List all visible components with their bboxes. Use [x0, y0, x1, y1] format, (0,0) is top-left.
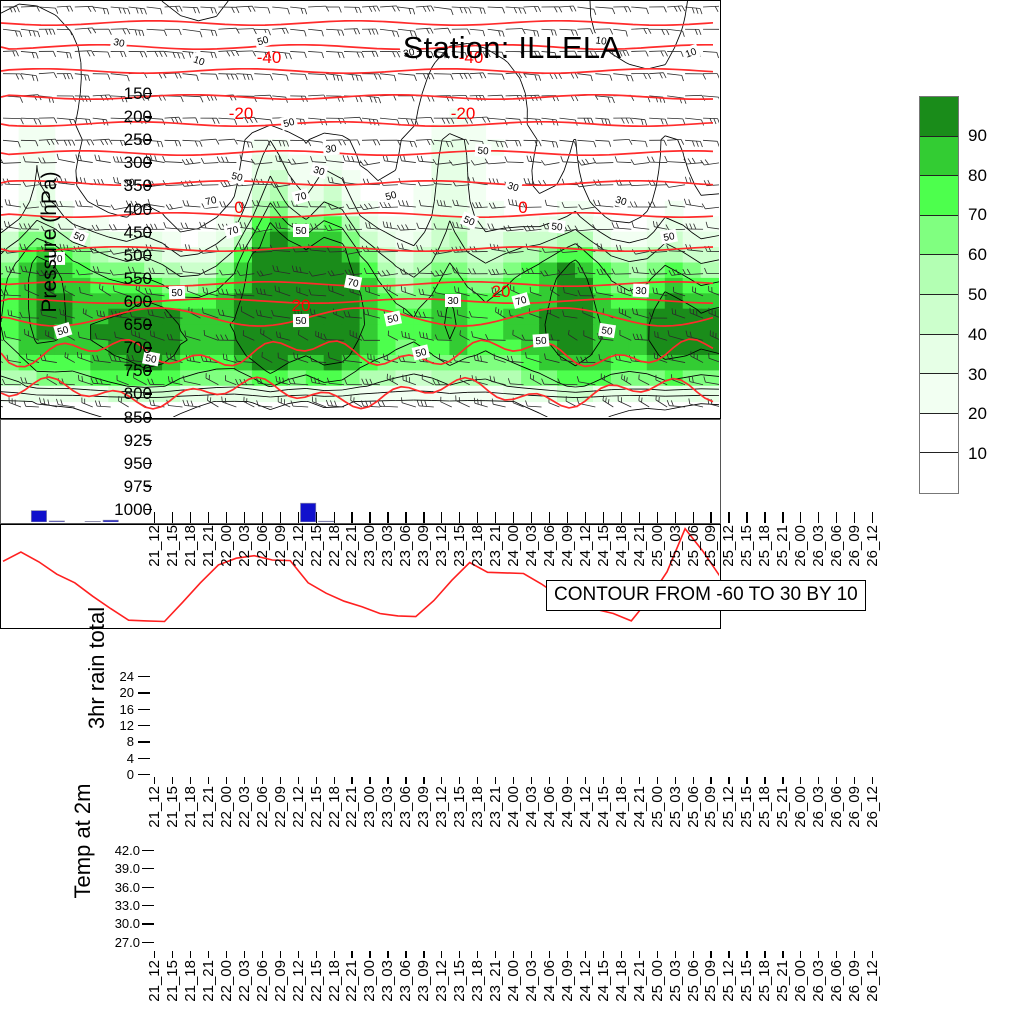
time-tick-label: 22_06: [255, 960, 270, 1002]
time-tick-label: 23_18: [470, 525, 485, 567]
time-tick-label: 26_00: [793, 786, 808, 828]
svg-text:50: 50: [551, 221, 564, 233]
time-tick-label: 23_12: [434, 786, 449, 828]
time-tick-mark: [639, 512, 640, 523]
temp-tick-mark: [142, 868, 154, 869]
pressure-axis: 1502002503003504004505005506006507007508…: [90, 93, 152, 512]
time-tick-label: 25_06: [686, 960, 701, 1002]
time-tick-mark: [621, 512, 622, 523]
colorbar-tick-label: 60: [968, 246, 987, 263]
rain-tick-mark: [138, 741, 150, 742]
rain-axis: 24201612840: [100, 672, 152, 777]
time-tick-label: 21_15: [165, 960, 180, 1002]
time-tick-mark: [513, 777, 514, 784]
time-tick-mark: [657, 777, 658, 784]
time-tick-label: 25_09: [703, 525, 718, 567]
time-tick-label: 22_09: [273, 525, 288, 567]
time-tick-mark: [316, 951, 317, 958]
time-tick-mark: [872, 951, 873, 958]
time-tick-mark: [262, 777, 263, 784]
time-tick-mark: [190, 512, 191, 523]
time-tick-mark: [334, 951, 335, 958]
colorbar-tick-label: 50: [968, 286, 987, 303]
time-tick-label: 22_21: [344, 786, 359, 828]
time-tick-label: 23_21: [488, 525, 503, 567]
time-tick-label: 22_03: [237, 786, 252, 828]
time-tick-label: 24_15: [596, 960, 611, 1002]
time-tick-label: 25_18: [757, 960, 772, 1002]
time-tick-mark: [872, 512, 873, 523]
time-tick-mark: [764, 951, 765, 958]
time-tick-label: 21_12: [147, 960, 162, 1002]
time-tick-mark: [657, 951, 658, 958]
main-panel-y-axis-label: Pressure (hPa): [38, 132, 62, 352]
time-tick-mark: [298, 951, 299, 958]
pressure-tick-mark: [145, 370, 152, 371]
time-tick-mark: [280, 512, 281, 523]
time-tick-label: 25_15: [739, 960, 754, 1002]
time-tick-label: 25_03: [668, 960, 683, 1002]
time-tick-label: 26_12: [865, 525, 880, 567]
time-tick-label: 22_03: [237, 960, 252, 1002]
time-tick-label: 26_12: [865, 960, 880, 1002]
time-tick-mark: [459, 777, 460, 784]
rain-tick-mark: [138, 758, 150, 759]
time-tick-label: 24_09: [560, 525, 575, 567]
svg-text:50: 50: [171, 288, 183, 299]
rain-tick-mark: [138, 774, 150, 775]
colorbar-band: [920, 216, 958, 256]
colorbar-tick-label: 70: [968, 206, 987, 223]
time-tick-label: 24_18: [614, 786, 629, 828]
time-tick-label: 22_06: [255, 786, 270, 828]
svg-text:50: 50: [535, 336, 547, 348]
time-tick-label: 21_15: [165, 786, 180, 828]
time-tick-mark: [531, 512, 532, 523]
pressure-tick-mark: [145, 440, 152, 441]
pressure-tick-mark: [145, 393, 152, 394]
time-tick-label: 25_09: [703, 786, 718, 828]
time-tick-mark: [477, 951, 478, 958]
time-tick-mark: [693, 951, 694, 958]
time-tick-label: 26_06: [829, 786, 844, 828]
time-tick-label: 23_15: [452, 525, 467, 567]
time-tick-label: 25_21: [775, 525, 790, 567]
time-tick-label: 21_21: [201, 525, 216, 567]
pressure-tick-mark: [145, 324, 152, 325]
time-tick-label: 22_18: [327, 525, 342, 567]
time-tick-label: 26_00: [793, 525, 808, 567]
time-tick-mark: [818, 777, 819, 784]
time-tick-mark: [208, 777, 209, 784]
time-tick-mark: [657, 512, 658, 523]
time-tick-label: 22_15: [309, 786, 324, 828]
time-tick-label: 25_00: [650, 525, 665, 567]
rain-tick-mark: [138, 692, 150, 693]
time-tick-mark: [298, 512, 299, 523]
time-tick-label: 22_12: [291, 525, 306, 567]
pressure-tick-mark: [145, 463, 152, 464]
svg-text:50: 50: [295, 226, 307, 237]
time-tick-label: 23_06: [398, 786, 413, 828]
time-tick-mark: [585, 512, 586, 523]
colorbar-band: [920, 374, 958, 414]
temp-panel-time-axis: 21_1221_1521_1821_2122_0022_0322_0622_09…: [152, 951, 873, 1011]
pressure-tick-mark: [145, 278, 152, 279]
time-tick-mark: [316, 512, 317, 523]
time-tick-mark: [405, 951, 406, 958]
colorbar-band: [920, 176, 958, 216]
colorbar-tick-label: 20: [968, 405, 987, 422]
pressure-tick-mark: [145, 93, 152, 94]
time-tick-label: 24_21: [632, 525, 647, 567]
time-tick-label: 22_12: [291, 786, 306, 828]
temp-tick-label: 42.0: [96, 844, 140, 857]
time-tick-label: 25_00: [650, 960, 665, 1002]
time-tick-mark: [172, 777, 173, 784]
time-tick-mark: [226, 951, 227, 958]
time-tick-label: 24_18: [614, 960, 629, 1002]
time-tick-label: 24_00: [506, 786, 521, 828]
time-tick-label: 23_21: [488, 960, 503, 1002]
time-tick-label: 26_00: [793, 960, 808, 1002]
time-tick-mark: [531, 777, 532, 784]
time-tick-mark: [728, 512, 729, 523]
time-tick-label: 25_06: [686, 525, 701, 567]
time-tick-label: 24_12: [578, 960, 593, 1002]
time-tick-mark: [513, 512, 514, 523]
time-tick-label: 24_03: [524, 960, 539, 1002]
svg-text:50: 50: [477, 146, 489, 158]
temp-tick-mark: [142, 850, 154, 851]
time-tick-label: 26_06: [829, 960, 844, 1002]
time-tick-mark: [405, 777, 406, 784]
time-tick-label: 26_03: [811, 786, 826, 828]
time-tick-label: 26_12: [865, 786, 880, 828]
time-tick-mark: [639, 951, 640, 958]
time-tick-mark: [710, 951, 711, 958]
time-tick-label: 25_15: [739, 525, 754, 567]
time-tick-mark: [351, 512, 352, 523]
temp-tick-mark: [142, 905, 154, 906]
temp-tick-label: 36.0: [96, 881, 140, 894]
time-tick-mark: [441, 951, 442, 958]
time-tick-mark: [549, 512, 550, 523]
colorbar-band: [920, 453, 958, 493]
svg-text:20: 20: [492, 282, 511, 301]
time-tick-mark: [675, 512, 676, 523]
time-tick-label: 21_18: [183, 960, 198, 1002]
rain-tick-mark: [138, 709, 150, 710]
time-tick-mark: [746, 777, 747, 784]
time-tick-label: 24_06: [542, 525, 557, 567]
time-tick-mark: [495, 777, 496, 784]
time-tick-label: 25_03: [668, 525, 683, 567]
colorbar-band: [920, 255, 958, 295]
time-tick-mark: [334, 777, 335, 784]
time-tick-mark: [405, 512, 406, 523]
time-tick-mark: [639, 777, 640, 784]
temp-tick-label: 30.0: [96, 917, 140, 930]
time-tick-mark: [836, 951, 837, 958]
temp-tick-label: 33.0: [96, 899, 140, 912]
rain-panel-time-axis: 21_1221_1521_1821_2122_0022_0322_0622_09…: [152, 777, 873, 837]
time-tick-label: 21_18: [183, 525, 198, 567]
pressure-tick-mark: [145, 209, 152, 210]
time-tick-mark: [459, 951, 460, 958]
time-tick-mark: [693, 512, 694, 523]
time-tick-label: 22_09: [273, 960, 288, 1002]
time-tick-mark: [675, 777, 676, 784]
time-tick-mark: [334, 512, 335, 523]
svg-text:50: 50: [601, 325, 614, 338]
colorbar-tick-label: 40: [968, 326, 987, 343]
time-tick-mark: [603, 512, 604, 523]
rain-tick-label: 12: [100, 719, 134, 732]
time-tick-mark: [728, 777, 729, 784]
time-tick-label: 22_00: [219, 525, 234, 567]
time-tick-mark: [513, 951, 514, 958]
time-tick-mark: [800, 512, 801, 523]
time-tick-label: 23_09: [416, 786, 431, 828]
time-tick-label: 22_00: [219, 786, 234, 828]
time-tick-mark: [567, 951, 568, 958]
time-tick-label: 24_00: [506, 525, 521, 567]
svg-text:50: 50: [295, 316, 307, 327]
time-tick-mark: [800, 777, 801, 784]
time-tick-label: 25_21: [775, 960, 790, 1002]
time-tick-mark: [782, 777, 783, 784]
time-tick-label: 25_12: [721, 960, 736, 1002]
pressure-tick-mark: [145, 417, 152, 418]
time-tick-label: 23_06: [398, 960, 413, 1002]
rain-tick-mark: [138, 725, 150, 726]
time-tick-mark: [351, 777, 352, 784]
time-tick-mark: [603, 777, 604, 784]
time-tick-label: 25_03: [668, 786, 683, 828]
pressure-tick-mark: [145, 301, 152, 302]
pressure-tick-mark: [145, 139, 152, 140]
time-tick-label: 23_00: [362, 786, 377, 828]
time-tick-mark: [567, 777, 568, 784]
time-tick-mark: [208, 512, 209, 523]
time-tick-label: 24_12: [578, 525, 593, 567]
svg-text:0: 0: [234, 198, 243, 217]
time-tick-mark: [621, 777, 622, 784]
colorbar-tick-label: 30: [968, 366, 987, 383]
svg-text:0: 0: [518, 198, 527, 217]
time-tick-label: 24_09: [560, 786, 575, 828]
time-tick-mark: [208, 951, 209, 958]
time-tick-mark: [262, 512, 263, 523]
colorbar-band: [920, 414, 958, 454]
time-tick-mark: [298, 777, 299, 784]
time-tick-mark: [585, 951, 586, 958]
rain-tick-label: 20: [100, 686, 134, 699]
time-tick-label: 24_03: [524, 525, 539, 567]
time-tick-label: 21_18: [183, 786, 198, 828]
time-tick-label: 23_09: [416, 960, 431, 1002]
time-tick-mark: [154, 777, 155, 784]
page-title: Station: ILLELA: [0, 30, 1024, 66]
time-tick-label: 24_15: [596, 786, 611, 828]
temp-panel-y-axis-label: Temp at 2m: [70, 726, 96, 956]
time-tick-label: 26_09: [847, 786, 862, 828]
time-tick-mark: [387, 777, 388, 784]
time-tick-label: 24_15: [596, 525, 611, 567]
time-tick-label: 24_00: [506, 960, 521, 1002]
svg-text:30: 30: [447, 296, 459, 307]
time-tick-label: 24_09: [560, 960, 575, 1002]
time-tick-label: 22_21: [344, 525, 359, 567]
time-tick-label: 23_15: [452, 786, 467, 828]
time-tick-mark: [441, 777, 442, 784]
time-tick-mark: [172, 512, 173, 523]
temp-tick-mark: [142, 887, 154, 888]
time-tick-mark: [495, 951, 496, 958]
time-tick-label: 23_00: [362, 525, 377, 567]
time-tick-mark: [244, 951, 245, 958]
rain-tick-label: 16: [100, 703, 134, 716]
time-tick-label: 25_06: [686, 786, 701, 828]
time-tick-label: 24_03: [524, 786, 539, 828]
time-tick-mark: [459, 512, 460, 523]
time-tick-label: 22_12: [291, 960, 306, 1002]
time-tick-label: 26_09: [847, 960, 862, 1002]
time-tick-label: 21_12: [147, 786, 162, 828]
time-tick-mark: [495, 512, 496, 523]
rain-tick-label: 8: [100, 735, 134, 748]
time-tick-label: 25_18: [757, 786, 772, 828]
temp-tick-label: 39.0: [96, 862, 140, 875]
rain-tick-label: 24: [100, 670, 134, 683]
colorbar-tick-label: 80: [968, 167, 987, 184]
time-tick-mark: [746, 512, 747, 523]
time-tick-mark: [603, 951, 604, 958]
time-tick-label: 23_15: [452, 960, 467, 1002]
time-tick-label: 25_00: [650, 786, 665, 828]
time-tick-mark: [710, 777, 711, 784]
time-tick-label: 24_06: [542, 960, 557, 1002]
time-tick-label: 22_00: [219, 960, 234, 1002]
time-tick-mark: [872, 777, 873, 784]
time-tick-mark: [190, 777, 191, 784]
svg-text:30: 30: [325, 143, 338, 156]
rain-tick-label: 4: [100, 752, 134, 765]
time-tick-label: 25_12: [721, 786, 736, 828]
colorbar-tick-label: 10: [968, 445, 987, 462]
time-tick-mark: [782, 512, 783, 523]
time-tick-mark: [244, 512, 245, 523]
rain-tick-mark: [138, 676, 150, 677]
time-tick-mark: [854, 777, 855, 784]
time-tick-mark: [190, 951, 191, 958]
time-tick-mark: [423, 512, 424, 523]
pressure-tick-mark: [145, 347, 152, 348]
time-tick-mark: [567, 512, 568, 523]
time-tick-label: 24_18: [614, 525, 629, 567]
pressure-tick-mark: [145, 232, 152, 233]
pressure-tick-mark: [145, 116, 152, 117]
svg-text:20: 20: [292, 296, 311, 315]
time-tick-label: 26_03: [811, 525, 826, 567]
time-tick-mark: [549, 951, 550, 958]
time-tick-label: 25_18: [757, 525, 772, 567]
time-tick-label: 22_09: [273, 786, 288, 828]
time-tick-label: 26_09: [847, 525, 862, 567]
time-tick-mark: [226, 512, 227, 523]
temp-axis: 42.039.036.033.030.027.0: [96, 846, 152, 951]
time-tick-label: 24_21: [632, 960, 647, 1002]
time-tick-mark: [262, 951, 263, 958]
colorbar-band: [920, 97, 958, 137]
time-tick-label: 22_21: [344, 960, 359, 1002]
time-tick-label: 24_21: [632, 786, 647, 828]
temp-tick-label: 27.0: [96, 936, 140, 949]
pressure-tick-mark: [145, 255, 152, 256]
time-tick-mark: [477, 512, 478, 523]
time-tick-mark: [836, 777, 837, 784]
time-tick-label: 23_03: [380, 525, 395, 567]
time-tick-mark: [531, 951, 532, 958]
time-tick-label: 21_15: [165, 525, 180, 567]
svg-text:-20: -20: [229, 104, 254, 123]
time-tick-mark: [280, 951, 281, 958]
time-tick-label: 22_18: [327, 786, 342, 828]
time-tick-label: 21_12: [147, 525, 162, 567]
temp-tick-mark: [142, 942, 154, 943]
time-tick-mark: [369, 512, 370, 523]
time-tick-mark: [782, 951, 783, 958]
time-tick-mark: [423, 951, 424, 958]
time-tick-label: 22_03: [237, 525, 252, 567]
time-tick-mark: [154, 951, 155, 958]
time-tick-mark: [854, 512, 855, 523]
time-tick-mark: [387, 951, 388, 958]
time-tick-mark: [764, 777, 765, 784]
time-tick-mark: [836, 512, 837, 523]
colorbar: [919, 96, 959, 494]
time-tick-label: 22_15: [309, 525, 324, 567]
time-tick-mark: [226, 777, 227, 784]
time-tick-label: 23_18: [470, 786, 485, 828]
time-tick-mark: [441, 512, 442, 523]
rain-tick-label: 0: [100, 768, 134, 781]
time-tick-mark: [818, 512, 819, 523]
main-panel-time-axis: 21_1221_1521_1821_2122_0022_0322_0622_09…: [152, 512, 873, 582]
time-tick-label: 24_06: [542, 786, 557, 828]
colorbar-band: [920, 295, 958, 335]
time-tick-mark: [675, 951, 676, 958]
time-tick-mark: [585, 777, 586, 784]
time-tick-label: 26_03: [811, 960, 826, 1002]
time-tick-mark: [549, 777, 550, 784]
time-tick-label: 23_12: [434, 960, 449, 1002]
time-tick-mark: [728, 951, 729, 958]
time-tick-mark: [244, 777, 245, 784]
time-tick-label: 23_00: [362, 960, 377, 1002]
pressure-tick-mark: [145, 162, 152, 163]
time-tick-mark: [154, 512, 155, 523]
time-tick-mark: [818, 951, 819, 958]
time-tick-mark: [710, 512, 711, 523]
time-tick-mark: [800, 951, 801, 958]
time-tick-mark: [854, 951, 855, 958]
colorbar-tick-label: 90: [968, 127, 987, 144]
time-tick-mark: [764, 512, 765, 523]
svg-text:30: 30: [635, 286, 647, 298]
svg-text:-20: -20: [451, 104, 476, 123]
